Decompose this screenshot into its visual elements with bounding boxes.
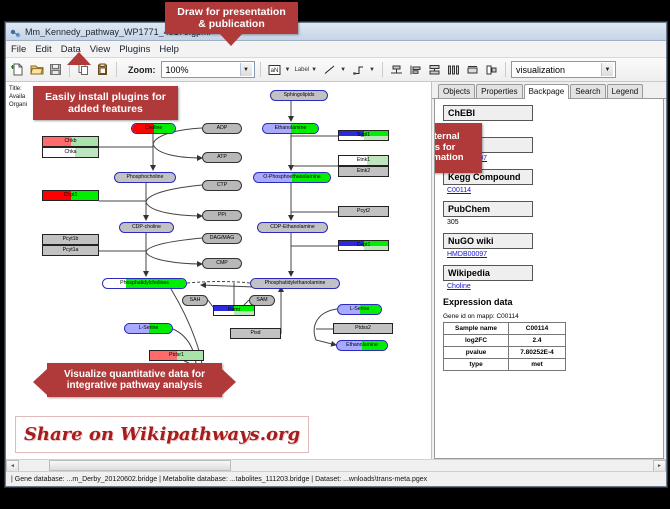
pathway-node-pcyt1b[interactable]: Pcyt1b [42,234,99,245]
share-banner: Share on Wikipathways.org [15,416,309,453]
pathway-node-dag-mag[interactable]: DAG/MAG [202,233,242,244]
expr-value: 7.80252E-4 [509,347,566,359]
pathway-node-ppi[interactable]: PPi [202,210,242,221]
pathway-node-adp[interactable]: ADP [202,123,242,134]
pathway-node-etnk2[interactable]: Etnk2 [338,166,389,177]
side-panel-tabs: Objects Properties Backpage Search Legen… [432,82,666,99]
node-label: Sphingolipids [284,93,315,98]
save-icon[interactable] [47,61,64,78]
paste-icon[interactable] [94,61,111,78]
tab-backpage[interactable]: Backpage [524,84,570,99]
db-value-pubchem: 305 [447,219,663,226]
expr-key: pvalue [444,347,509,359]
callout-link-line1: Link to external [434,132,460,143]
node-label: ATP [217,155,227,160]
node-label: CTP [217,183,227,188]
pathvisio-window: Mm_Kennedy_pathway_WP1771_45176.gpml Fil… [5,22,667,487]
node-label: CDP-Ethanolamine [270,225,314,230]
pathway-node-phosphocholine[interactable]: Phosphocholine [114,172,176,183]
node-label: CDP-choline [132,225,161,230]
callout-plugins-line2: added features [68,103,143,115]
menu-help[interactable]: Help [159,44,179,55]
zoom-label: Zoom: [128,65,156,75]
toolbar-separator [260,62,261,77]
node-label: SAM [256,298,267,303]
open-folder-icon[interactable] [28,61,45,78]
pathway-node-cdp-ethanolamine[interactable]: CDP-Ethanolamine [257,222,328,233]
distribute-icon[interactable] [445,61,462,78]
node-label: Ethanolamine [275,126,307,131]
align-center-icon[interactable] [388,61,405,78]
pathway-node-atp[interactable]: ATP [202,152,242,163]
stack-icon[interactable] [426,61,443,78]
callout-visualize-line2: integrative pathway analysis [67,380,203,392]
node-label: O-Phosphoethanolamine [263,175,320,180]
share-banner-text: Share on Wikipathways.org [24,424,300,445]
node-label: Etnk2 [357,169,370,174]
zoom-combobox[interactable]: 100% ▼ [161,61,255,78]
db-header-wikipedia: Wikipedia [443,265,533,281]
pathway-node-pcyt2[interactable]: Pcyt2 [338,206,389,217]
expr-key: log2FC [444,335,509,347]
menu-view[interactable]: View [90,44,110,55]
main-body: Title: Availa Organi [6,82,666,459]
callout-draw-line2: & publication [198,18,265,30]
scroll-thumb[interactable] [49,460,231,471]
tab-properties[interactable]: Properties [476,84,522,98]
backpage-panel[interactable]: ChEBI15354HMDBHMDB00097Kegg CompoundC001… [434,99,664,459]
callout-link-line3: more information [434,153,464,164]
pathway-node-phosphatidylethanolamine[interactable]: Phosphatidylethanolamine [250,278,340,289]
db-header-nugo-wiki: NuGO wiki [443,233,533,249]
node-label: Ptdsr1 [169,353,184,358]
node-label: Phosphatidylcholines [120,281,169,286]
toolbar-separator [382,62,383,77]
callout-link: Link to external databases for more info… [434,123,482,173]
node-fill-rgt [75,148,98,157]
pathway-node-cept1[interactable]: Cept1 [338,240,389,251]
pathway-canvas[interactable]: Title: Availa Organi [6,82,432,459]
node-label: Chpt1 [64,193,78,198]
callout-visualize-line1: Visualize quantitative data for [64,369,205,381]
expr-key: Sample name [444,323,509,335]
expr-value: met [509,359,566,371]
node-label: Pisd [250,331,260,336]
order-icon[interactable] [483,61,500,78]
chevron-down-icon[interactable]: ▼ [311,67,317,73]
node-label: PPi [218,213,226,218]
toolbar-separator [505,62,506,77]
horizontal-scrollbar[interactable]: ◄ ► [6,459,666,471]
callout-plugins-line1: Easily install plugins for [45,91,166,103]
scroll-right-button[interactable]: ► [653,460,666,472]
table-row: log2FC2.4 [444,335,566,347]
pathway-node-pcyt1a[interactable]: Pcyt1a [42,245,99,256]
db-header-pubchem: PubChem [443,201,533,217]
table-row: pvalue7.80252E-4 [444,347,566,359]
pathway-node-pisd[interactable]: Pisd [230,328,281,339]
pathway-node-phosphatidylcholines[interactable]: Phosphatidylcholines [102,278,187,289]
pathway-node-l-serine[interactable]: L-Serine [124,323,173,334]
node-label: Pcyt1a [63,248,79,253]
status-bar-text: | Gene database: ...m_Derby_20120602.bri… [11,476,427,483]
node-label: Pcyt1b [63,237,79,242]
menu-bar: File Edit Data View Plugins Help [6,41,666,58]
tab-legend[interactable]: Legend [607,84,644,98]
node-label: Etnk1 [357,158,370,163]
pathway-node-o-phosphoethanolamine[interactable]: O-Phosphoethanolamine [253,172,331,183]
pathway-node-chka[interactable]: Chka [42,147,99,158]
db-link-wikipedia[interactable]: Choline [447,283,663,290]
toolbar: Zoom: 100% ▼ aN ▼ Label ▼ ▼ ▼ [6,58,666,82]
tab-search[interactable]: Search [570,84,605,98]
node-label: Sgpl1 [357,133,370,138]
pathway-node-choline[interactable]: Choline [131,123,176,134]
callout-visualize-arrow-right [222,369,236,395]
node-label: L-Serine [139,326,159,331]
pathway-node-sah[interactable]: SAH [182,295,208,306]
node-label: ADP [217,126,228,131]
callout-draw-line1: Draw for presentation [177,6,286,18]
callout-draw: Draw for presentation & publication [165,2,298,34]
pathvisio-icon [10,26,21,37]
node-label: Ethanolamine [346,343,378,348]
pathway-node-ethanolamine[interactable]: Ethanolamine [336,340,388,351]
pathway-node-sgpl1[interactable]: Sgpl1 [338,130,389,141]
menu-file[interactable]: File [11,44,26,55]
toolbar-separator [116,62,117,77]
callout-draw-arrow [219,33,243,46]
visualization-value: visualization [516,65,565,75]
node-label: Choline [145,126,163,131]
pathway-node-sphingolipids[interactable]: Sphingolipids [270,90,328,101]
callout-plugins: Easily install plugins for added feature… [33,86,178,120]
node-label: Phosphatidylethanolamine [265,281,326,286]
status-bar: | Gene database: ...m_Derby_20120602.bri… [6,471,666,486]
title-bar: Mm_Kennedy_pathway_WP1771_45176.gpml [6,23,666,41]
node-label: Chka [64,150,76,155]
node-fill-rgt [367,156,388,165]
node-label: Pcyt2 [357,209,370,214]
pathway-node-ptdss2[interactable]: Ptdss2 [333,323,393,334]
align-left-icon[interactable] [407,61,424,78]
pathway-node-ptdsr1[interactable]: Ptdsr1 [149,350,204,361]
side-panel: Objects Properties Backpage Search Legen… [432,82,666,459]
chevron-down-icon[interactable]: ▼ [601,63,613,76]
expr-value: C00114 [509,323,566,335]
pathway-node-l-serine[interactable]: L-Serine [337,304,382,315]
tab-objects[interactable]: Objects [438,84,475,98]
menu-edit[interactable]: Edit [35,44,51,55]
pathway-node-ethanolamine[interactable]: Ethanolamine [262,123,319,134]
gene-id-line: Gene id on mapp: C00114 [443,313,663,320]
expression-table: Sample nameC00114log2FC2.4pvalue7.80252E… [443,322,566,371]
table-row: Sample nameC00114 [444,323,566,335]
db-link-kegg-compound[interactable]: C00114 [447,187,663,194]
node-label: Ptdss2 [355,326,371,331]
pathway-node-etnk1[interactable]: Etnk1 [338,155,389,166]
visualization-combobox[interactable]: visualization ▼ [511,61,616,78]
callout-visualize-arrow-left [33,369,47,395]
pathway-node-ctp[interactable]: CTP [202,180,242,191]
db-link-nugo-wiki[interactable]: HMDB00097 [447,251,663,258]
menu-plugins[interactable]: Plugins [119,44,150,55]
pathway-node-chpt1[interactable]: Chpt1 [42,190,99,201]
pathway-node-pemt[interactable]: Pemt [213,305,255,316]
node-label: Chkb [64,139,76,144]
chevron-down-icon[interactable]: ▼ [240,63,252,76]
pathway-node-chkb[interactable]: Chkb [42,136,99,147]
chevron-down-icon[interactable]: ▼ [369,67,375,73]
pathway-node-cmp[interactable]: CMP [202,258,242,269]
db-header-chebi: ChEBI [443,105,533,121]
expr-value: 2.4 [509,335,566,347]
expr-key: type [444,359,509,371]
zoom-value: 100% [166,65,189,75]
new-file-icon[interactable] [9,61,26,78]
line-icon[interactable] [321,61,338,78]
node-label: DAG/MAG [210,236,235,241]
chevron-down-icon[interactable]: ▼ [340,67,346,73]
chevron-down-icon[interactable]: ▼ [285,67,291,73]
node-label: Pemt [228,308,240,313]
pathway-node-cdp-choline[interactable]: CDP-choline [119,222,174,233]
node-label: Cept1 [357,243,371,248]
group-icon[interactable] [464,61,481,78]
node-label: SAH [190,298,201,303]
callout-visualize: Visualize quantitative data for integrat… [47,363,222,397]
svg-text:aN: aN [270,68,278,74]
table-row: typemet [444,359,566,371]
interaction-icon[interactable] [350,61,367,78]
label-tool-label[interactable]: Label [294,67,309,73]
scroll-left-button[interactable]: ◄ [6,460,19,472]
callout-plugins-arrow [67,52,91,65]
expression-data-heading: Expression data [443,297,663,307]
datanode-icon[interactable]: aN [266,61,283,78]
node-label: CMP [216,261,228,266]
node-label: L-Serine [350,307,370,312]
node-label: Phosphocholine [127,175,164,180]
